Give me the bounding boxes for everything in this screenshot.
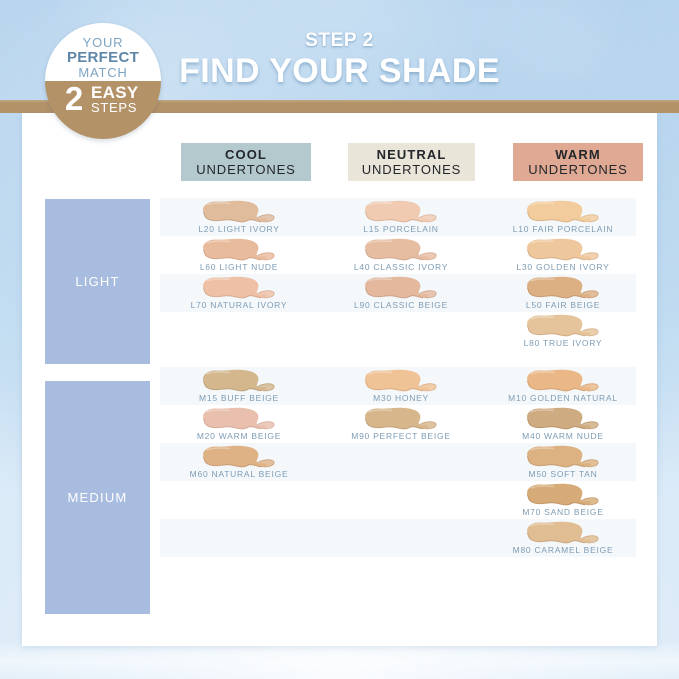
badge-line-your: YOUR [45, 35, 161, 50]
shade-cell[interactable]: L20 LIGHT IVORY [160, 198, 318, 236]
shade-row: M15 BUFF BEIGEM30 HONEYM10 GOLDEN NATURA… [160, 367, 636, 405]
perfect-match-badge: YOUR PERFECT MATCH 2 EASY STEPS [45, 23, 161, 139]
shade-row: M70 SAND BEIGE [160, 481, 636, 519]
shade-cell[interactable]: L40 CLASSIC IVORY [322, 236, 480, 274]
shade-name-label: L50 FAIR BEIGE [484, 300, 642, 310]
shade-name-label: M90 PERFECT BEIGE [322, 431, 480, 441]
column-title: WARM [555, 148, 601, 162]
shade-name-label: M40 WARM NUDE [484, 431, 642, 441]
shade-cell[interactable]: M20 WARM BEIGE [160, 405, 318, 443]
column-subtitle: UNDERTONES [362, 162, 462, 177]
shade-swatch-icon [196, 406, 282, 431]
shade-name-label: M20 WARM BEIGE [160, 431, 318, 441]
shade-name-label: L60 LIGHT NUDE [160, 262, 318, 272]
shade-name-label: L80 TRUE IVORY [484, 338, 642, 348]
column-header-neutral: NEUTRAL UNDERTONES [348, 143, 475, 181]
group-block-medium: MEDIUM [45, 381, 150, 614]
shade-name-label: L20 LIGHT IVORY [160, 224, 318, 234]
shade-row: L80 TRUE IVORY [160, 312, 636, 350]
column-subtitle: UNDERTONES [196, 162, 296, 177]
shade-swatch-icon [520, 368, 606, 393]
shade-cell-empty [322, 481, 480, 519]
shade-swatch-icon [358, 199, 444, 224]
shade-row: L20 LIGHT IVORYL15 PORCELAINL10 FAIR POR… [160, 198, 636, 236]
shade-name-label: M60 NATURAL BEIGE [160, 469, 318, 479]
shade-name-label: L15 PORCELAIN [322, 224, 480, 234]
shade-swatch-icon [520, 313, 606, 338]
shade-cell[interactable]: M40 WARM NUDE [484, 405, 642, 443]
column-title: COOL [225, 148, 267, 162]
shade-swatch-icon [358, 237, 444, 262]
shade-cell[interactable]: L30 GOLDEN IVORY [484, 236, 642, 274]
shade-cell-empty [322, 312, 480, 350]
shade-cell-empty [160, 481, 318, 519]
shade-row: L70 NATURAL IVORYL90 CLASSIC BEIGEL50 FA… [160, 274, 636, 312]
shade-cell[interactable]: M50 SOFT TAN [484, 443, 642, 481]
shade-row: M20 WARM BEIGEM90 PERFECT BEIGEM40 WARM … [160, 405, 636, 443]
shade-cell[interactable]: L60 LIGHT NUDE [160, 236, 318, 274]
badge-steps-label: STEPS [91, 100, 151, 115]
shade-name-label: M10 GOLDEN NATURAL [484, 393, 642, 403]
shade-swatch-icon [196, 237, 282, 262]
shade-name-label: M15 BUFF BEIGE [160, 393, 318, 403]
shade-cell[interactable]: M60 NATURAL BEIGE [160, 443, 318, 481]
shade-swatch-icon [196, 368, 282, 393]
shade-name-label: L40 CLASSIC IVORY [322, 262, 480, 272]
shade-name-label: L90 CLASSIC BEIGE [322, 300, 480, 310]
shade-cell-empty [160, 312, 318, 350]
shade-cell[interactable]: M10 GOLDEN NATURAL [484, 367, 642, 405]
shade-cell[interactable]: L10 FAIR PORCELAIN [484, 198, 642, 236]
shade-finder-poster: STEP 2 FIND YOUR SHADE YOUR PERFECT MATC… [0, 0, 679, 679]
shade-swatch-icon [520, 237, 606, 262]
shade-name-label: M30 HONEY [322, 393, 480, 403]
shade-cell[interactable]: M30 HONEY [322, 367, 480, 405]
badge-line-match: MATCH [45, 65, 161, 80]
shade-cell-empty [160, 519, 318, 557]
shade-name-label: M70 SAND BEIGE [484, 507, 642, 517]
shade-swatch-icon [520, 199, 606, 224]
shade-cell[interactable]: L80 TRUE IVORY [484, 312, 642, 350]
shade-name-label: L30 GOLDEN IVORY [484, 262, 642, 272]
shade-cell[interactable]: L70 NATURAL IVORY [160, 274, 318, 312]
shade-swatch-icon [520, 406, 606, 431]
shade-swatch-icon [520, 275, 606, 300]
shade-swatch-icon [196, 199, 282, 224]
badge-number: 2 [57, 81, 91, 117]
column-header-warm: WARM UNDERTONES [513, 143, 643, 181]
shade-swatch-icon [196, 275, 282, 300]
shade-row: M60 NATURAL BEIGEM50 SOFT TAN [160, 443, 636, 481]
shade-grid: L20 LIGHT IVORYL15 PORCELAINL10 FAIR POR… [160, 198, 636, 557]
shade-name-label: L10 FAIR PORCELAIN [484, 224, 642, 234]
shade-cell[interactable]: L90 CLASSIC BEIGE [322, 274, 480, 312]
group-block-light: LIGHT [45, 199, 150, 364]
column-header-cool: COOL UNDERTONES [181, 143, 311, 181]
shade-name-label: M80 CARAMEL BEIGE [484, 545, 642, 555]
badge-line-perfect: PERFECT [45, 49, 161, 66]
shade-swatch-icon [520, 520, 606, 545]
shade-swatch-icon [520, 482, 606, 507]
group-label: LIGHT [75, 274, 119, 289]
shade-cell-empty [322, 519, 480, 557]
shade-swatch-icon [358, 275, 444, 300]
shade-cell[interactable]: M90 PERFECT BEIGE [322, 405, 480, 443]
shade-cell[interactable]: M80 CARAMEL BEIGE [484, 519, 642, 557]
column-subtitle: UNDERTONES [528, 162, 628, 177]
shade-swatch-icon [196, 444, 282, 469]
shade-cell[interactable]: L50 FAIR BEIGE [484, 274, 642, 312]
shade-row: M80 CARAMEL BEIGE [160, 519, 636, 557]
shade-name-label: L70 NATURAL IVORY [160, 300, 318, 310]
shade-swatch-icon [520, 444, 606, 469]
shade-cell[interactable]: M15 BUFF BEIGE [160, 367, 318, 405]
shade-swatch-icon [358, 368, 444, 393]
shade-cell[interactable]: M70 SAND BEIGE [484, 481, 642, 519]
shade-row: L60 LIGHT NUDEL40 CLASSIC IVORYL30 GOLDE… [160, 236, 636, 274]
shade-cell[interactable]: L15 PORCELAIN [322, 198, 480, 236]
group-spacer [160, 350, 636, 367]
group-label: MEDIUM [68, 490, 128, 505]
shade-cell-empty [322, 443, 480, 481]
column-title: NEUTRAL [377, 148, 447, 162]
shade-swatch-icon [358, 406, 444, 431]
shade-name-label: M50 SOFT TAN [484, 469, 642, 479]
